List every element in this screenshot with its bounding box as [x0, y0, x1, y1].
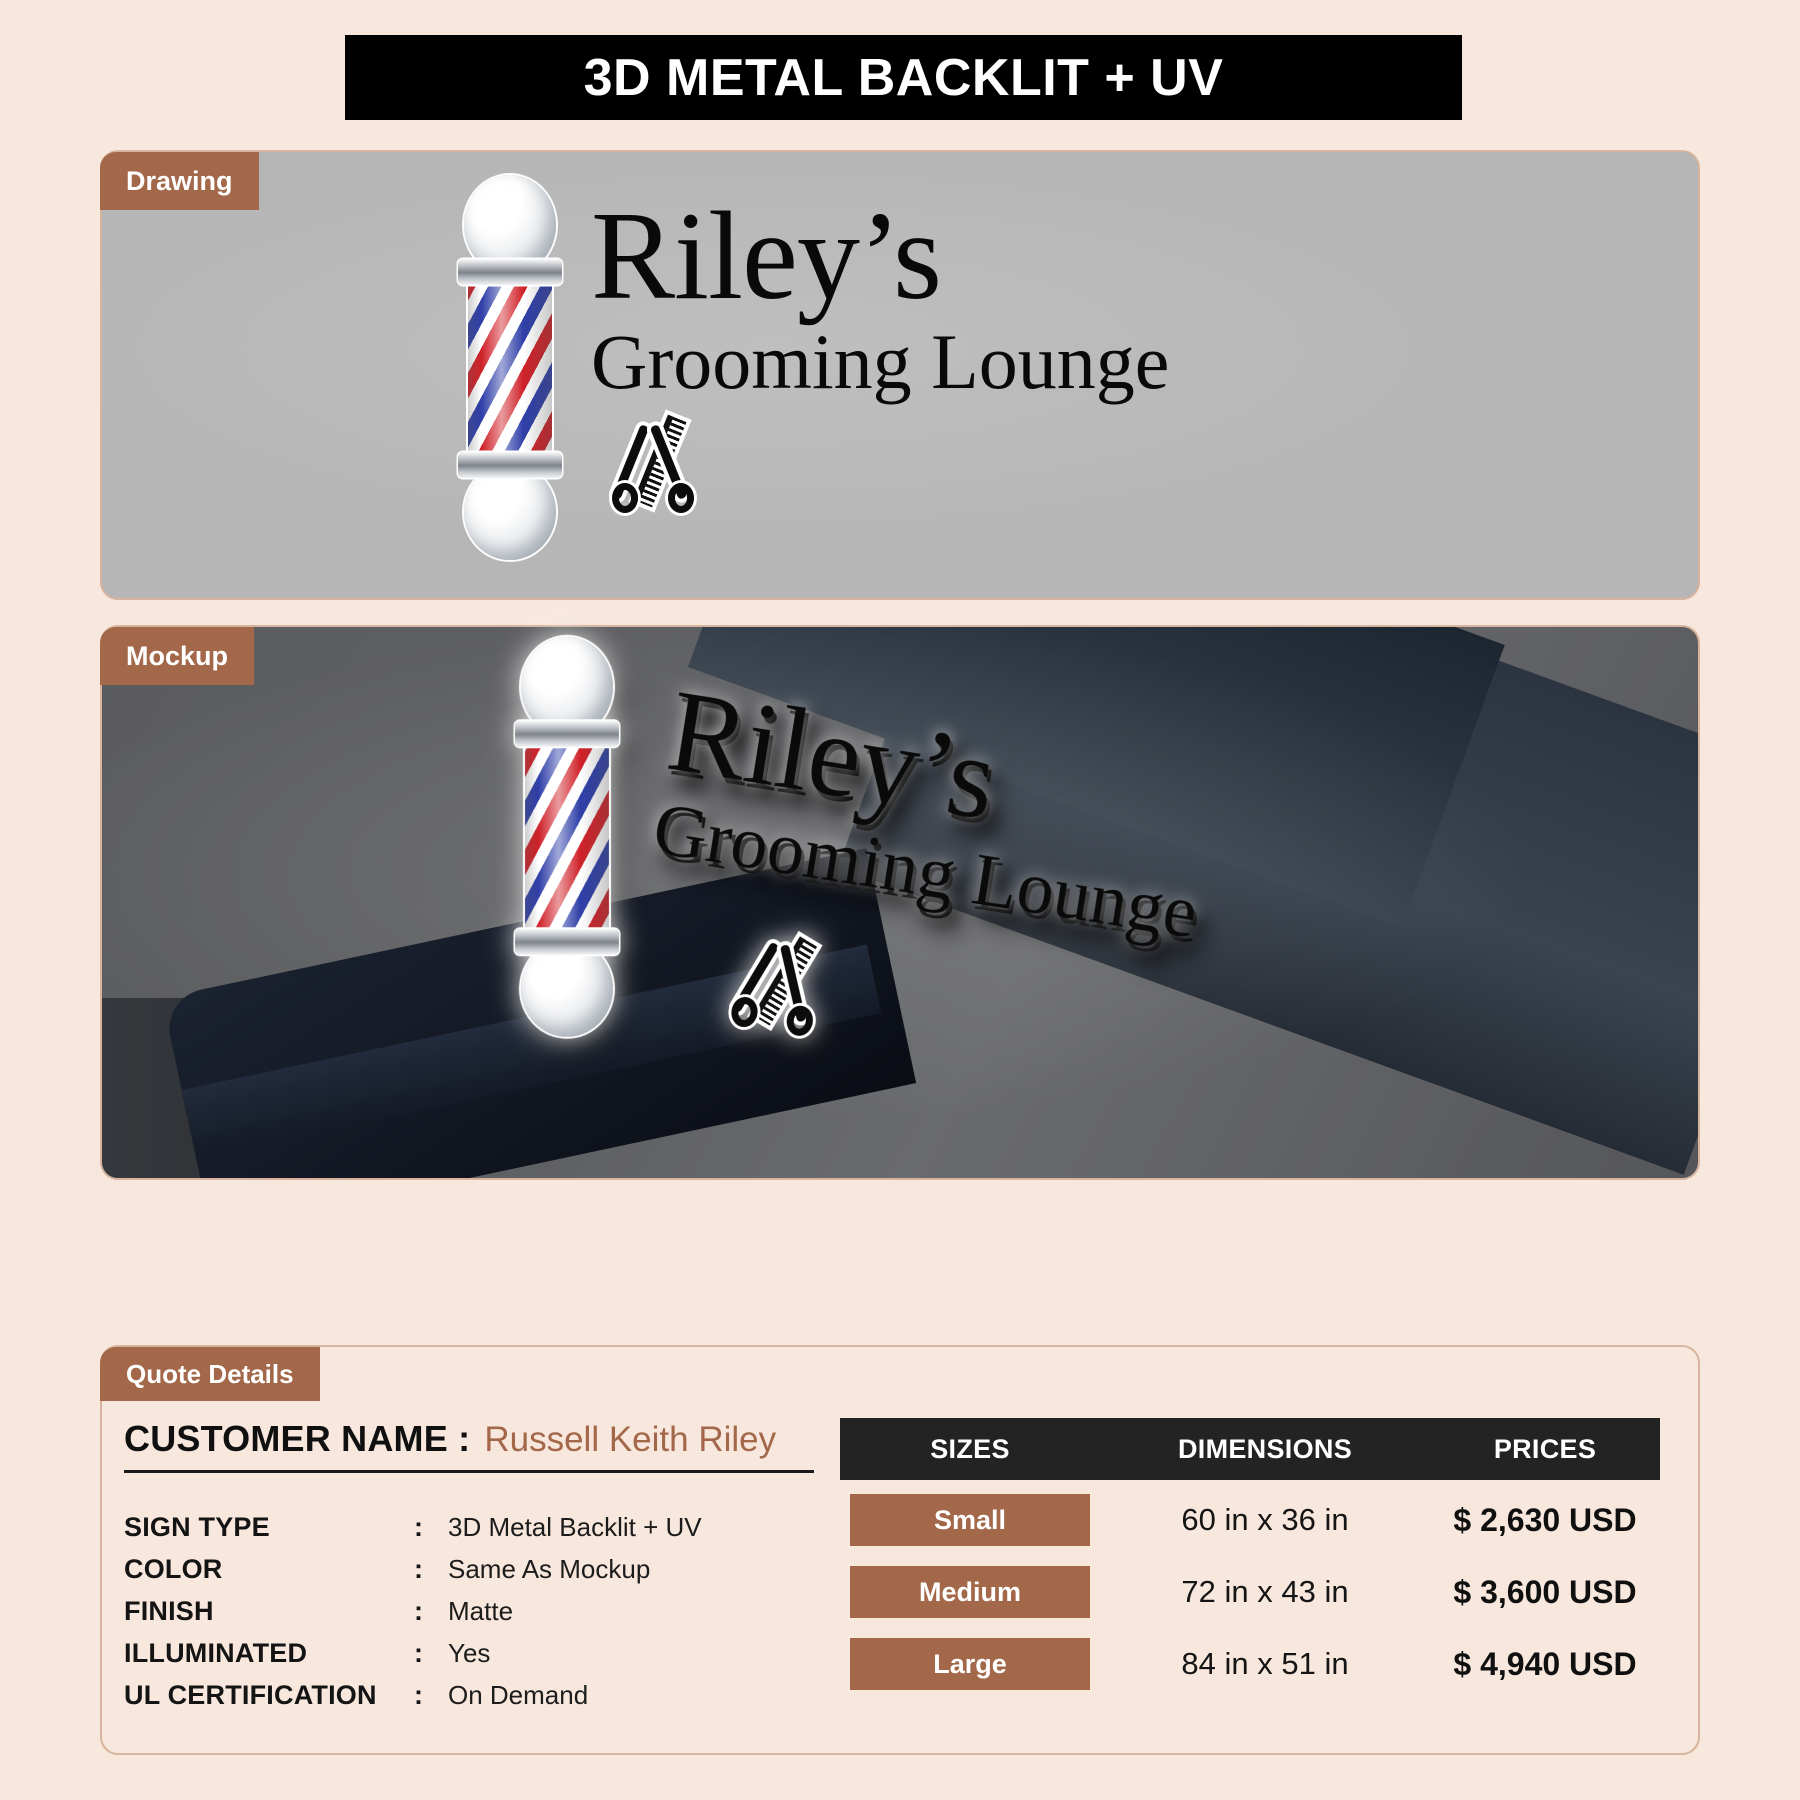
page-title-banner: 3D METAL BACKLIT + UV: [345, 35, 1462, 120]
table-row: Small 60 in x 36 in $ 2,630 USD: [840, 1488, 1660, 1552]
column-header-prices: PRICES: [1430, 1434, 1660, 1465]
size-badge-cell: Large: [840, 1638, 1100, 1690]
scissors-comb-icon: [600, 405, 720, 515]
pole-ring-bottom: [458, 452, 562, 478]
scissor-handle-right: [785, 1004, 815, 1038]
size-badge: Medium: [850, 1566, 1090, 1618]
scissor-handle-left: [612, 483, 638, 513]
dimensions-value: 84 in x 51 in: [1100, 1646, 1430, 1682]
spec-key: UL CERTIFICATION: [124, 1680, 414, 1711]
customer-name-value: Russell Keith Riley: [484, 1420, 776, 1460]
spec-row: SIGN TYPE : 3D Metal Backlit + UV: [124, 1512, 824, 1554]
pole-ring-top: [458, 259, 562, 285]
mockup-tab-text: Mockup: [126, 641, 228, 672]
drawing-logo-line1: Riley’s: [591, 195, 1169, 318]
spec-colon: :: [414, 1638, 448, 1669]
pole-globe-bottom: [521, 941, 613, 1037]
pricing-table: SIZES DIMENSIONS PRICES Small 60 in x 36…: [840, 1418, 1660, 1696]
spec-key: COLOR: [124, 1554, 414, 1585]
spec-row: FINISH : Matte: [124, 1596, 824, 1638]
spec-row: UL CERTIFICATION : On Demand: [124, 1680, 824, 1722]
page-title: 3D METAL BACKLIT + UV: [584, 48, 1224, 108]
mockup-tab-label: Mockup: [100, 627, 254, 685]
spec-key: SIGN TYPE: [124, 1512, 414, 1543]
spec-colon: :: [414, 1554, 448, 1585]
drawing-tab-text: Drawing: [126, 166, 233, 197]
spec-value: Matte: [448, 1596, 513, 1627]
spec-colon: :: [414, 1512, 448, 1543]
barber-pole-icon: [455, 175, 565, 560]
size-badge-cell: Small: [840, 1494, 1100, 1546]
quote-details-tab-text: Quote Details: [126, 1359, 294, 1390]
size-badge: Large: [850, 1638, 1090, 1690]
spec-key: ILLUMINATED: [124, 1638, 414, 1669]
scissors-comb-icon: [717, 916, 853, 1043]
price-value: $ 3,600 USD: [1430, 1574, 1660, 1611]
quote-details-tab-label: Quote Details: [100, 1347, 320, 1401]
pole-globe-bottom: [464, 464, 556, 560]
spec-row: ILLUMINATED : Yes: [124, 1638, 824, 1680]
spec-key: FINISH: [124, 1596, 414, 1627]
spec-value: Yes: [448, 1638, 490, 1669]
spec-value: Same As Mockup: [448, 1554, 650, 1585]
barber-pole-icon: [508, 637, 626, 1037]
spec-value: 3D Metal Backlit + UV: [448, 1512, 702, 1543]
size-badge-cell: Medium: [840, 1566, 1100, 1618]
dimensions-value: 72 in x 43 in: [1100, 1574, 1430, 1610]
quote-sheet: 3D METAL BACKLIT + UV Drawing Riley’s Gr…: [0, 0, 1800, 1800]
spec-row: COLOR : Same As Mockup: [124, 1554, 824, 1596]
pole-stripes: [525, 741, 609, 937]
spec-colon: :: [414, 1596, 448, 1627]
price-value: $ 2,630 USD: [1430, 1502, 1660, 1539]
spec-value: On Demand: [448, 1680, 588, 1711]
pricing-table-header: SIZES DIMENSIONS PRICES: [840, 1418, 1660, 1480]
column-header-dimensions: DIMENSIONS: [1100, 1434, 1430, 1465]
drawing-wordmark: Riley’s Grooming Lounge: [591, 175, 1169, 401]
scissor-handle-right: [668, 483, 694, 513]
drawing-logo-line2: Grooming Lounge: [591, 324, 1169, 400]
pole-stripes: [468, 279, 552, 460]
pole-ring-top: [515, 721, 619, 747]
spec-list: SIGN TYPE : 3D Metal Backlit + UV COLOR …: [124, 1512, 824, 1722]
price-value: $ 4,940 USD: [1430, 1646, 1660, 1683]
drawing-logo-lockup: Riley’s Grooming Lounge: [455, 175, 1169, 560]
customer-name-label: CUSTOMER NAME :: [124, 1418, 470, 1460]
column-header-sizes: SIZES: [840, 1434, 1100, 1465]
size-badge: Small: [850, 1494, 1090, 1546]
pole-ring-bottom: [515, 929, 619, 955]
dimensions-value: 60 in x 36 in: [1100, 1502, 1430, 1538]
table-row: Medium 72 in x 43 in $ 3,600 USD: [840, 1560, 1660, 1624]
scissor-handle-left: [729, 995, 759, 1029]
spec-colon: :: [414, 1680, 448, 1711]
customer-name-row: CUSTOMER NAME : Russell Keith Riley: [124, 1418, 814, 1473]
drawing-tab-label: Drawing: [100, 152, 259, 210]
table-row: Large 84 in x 51 in $ 4,940 USD: [840, 1632, 1660, 1696]
